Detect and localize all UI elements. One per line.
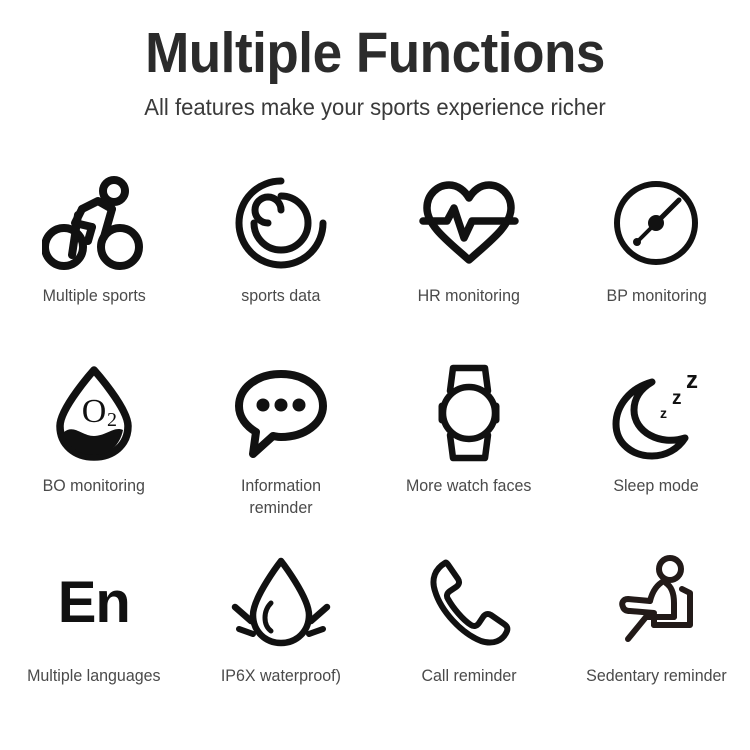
svg-text:z: z (660, 405, 667, 421)
feature-item-sedentary-reminder[interactable]: Sedentary reminder (563, 553, 750, 743)
phone-handset-icon (427, 553, 511, 653)
feature-label: HR monitoring (418, 285, 520, 307)
feature-item-multiple-sports[interactable]: Multiple sports (0, 173, 188, 363)
feature-label: Sedentary reminder (586, 665, 727, 687)
feature-item-sports-data[interactable]: sports data (188, 173, 376, 363)
page-subtitle: All features make your sports experience… (15, 94, 735, 121)
svg-text:z: z (672, 388, 682, 409)
feature-item-bp-monitoring[interactable]: BP monitoring (563, 173, 750, 363)
feature-label: BP monitoring (606, 285, 706, 307)
moon-zzz-icon: z z z (608, 363, 704, 463)
feature-label: sports data (242, 285, 321, 307)
feature-label: More watch faces (406, 475, 531, 497)
svg-text:O: O (81, 393, 106, 430)
gauge-icon (611, 173, 701, 273)
feature-label: BO monitoring (43, 475, 145, 497)
feature-label: Multiple sports (42, 285, 145, 307)
feature-label: Multiple languages (27, 665, 160, 687)
feature-item-ip6x-waterproof[interactable]: IP6X waterproof) (188, 553, 376, 743)
speech-bubble-dots-icon (233, 363, 329, 463)
svg-text:z: z (686, 367, 698, 394)
feature-item-sleep-mode[interactable]: z z z Sleep mode (563, 363, 750, 553)
page-header: Multiple Functions All features make you… (0, 0, 750, 121)
feature-item-call-reminder[interactable]: Call reminder (375, 553, 563, 743)
feature-overview-page: Multiple Functions All features make you… (0, 0, 750, 750)
en-label: En (58, 574, 130, 632)
feature-item-information-reminder[interactable]: Information reminder (188, 363, 376, 553)
feature-label: Sleep mode (614, 475, 699, 497)
feature-grid: Multiple sports sports data HR monito (0, 173, 750, 743)
droplet-o2-icon: O 2 (50, 363, 138, 463)
droplet-splash-icon (229, 553, 333, 653)
svg-text:2: 2 (107, 409, 117, 431)
heart-pulse-icon (419, 173, 519, 273)
page-title: Multiple Functions (26, 24, 724, 84)
cyclist-icon (42, 173, 146, 273)
en-language-icon: En (58, 553, 130, 653)
feature-item-hr-monitoring[interactable]: HR monitoring (375, 173, 563, 363)
smartwatch-icon (430, 363, 508, 463)
feature-label: Call reminder (421, 665, 516, 687)
activity-rings-icon (234, 173, 328, 273)
sitting-person-icon (608, 553, 704, 653)
feature-item-more-watch-faces[interactable]: More watch faces (375, 363, 563, 553)
feature-item-multiple-languages[interactable]: En Multiple languages (0, 553, 188, 743)
feature-label: IP6X waterproof) (221, 665, 341, 687)
feature-label: Information reminder (209, 475, 355, 520)
feature-item-bo-monitoring[interactable]: O 2 BO monitoring (0, 363, 188, 553)
